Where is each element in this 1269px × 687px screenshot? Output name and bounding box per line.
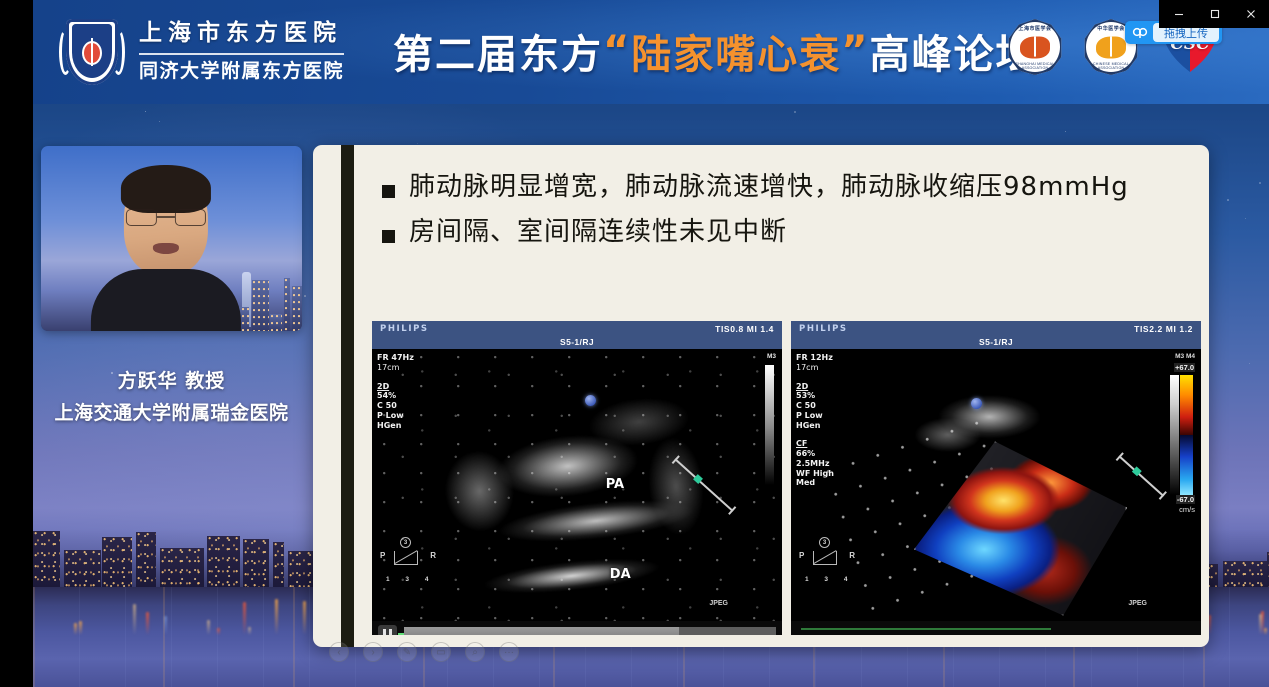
ultrasound-right-orientation: 3 P R 1 3 4 (799, 537, 855, 575)
orientation-left-label: P (799, 551, 804, 560)
pen-annotate-icon[interactable]: ✎ (397, 642, 417, 662)
hospital-name-block: 上海市东方医院 同济大学附属东方医院 (139, 22, 344, 81)
ultrasound-left-header: PHILIPS TIS0.8 MI 1.4 (372, 321, 782, 336)
ultrasound-right-bpm: --- bpm (1162, 634, 1194, 635)
sma-bottom-text: SHANGHAI MEDICAL ASSOCIATION (1007, 62, 1063, 70)
ultrasound-right-power: P Low (796, 411, 834, 421)
slide-bullet-1-text: 肺动脉明显增宽，肺动脉流速增快，肺动脉收缩压98mmHg (409, 171, 1129, 204)
ultrasound-left-orientation: 3 P R 1 3 4 (380, 537, 436, 575)
minimize-button[interactable] (1161, 0, 1197, 28)
hospital-name-line1: 上海市东方医院 (139, 22, 344, 45)
ultrasound-right-image: FR 12Hz 17cm 2D 53% C 50 P Low HGen (791, 349, 1201, 621)
ultrasound-left-framerate: FR 47Hz (377, 353, 414, 363)
velocity-scale-bottom: -67.0 (1176, 495, 1195, 504)
maximize-icon (1209, 8, 1221, 20)
meeting-window: 上海市东方医院 同济大学附属东方医院 第二届东方 “ 陆家嘴心衰 ” 高峰论坛 … (33, 0, 1269, 687)
ultrasound-left-power: P Low (377, 411, 414, 421)
orientation-right-label: R (849, 551, 855, 560)
previous-slide-icon[interactable]: ‹ (329, 642, 349, 662)
sma-top-text: 上海市医学会 (1007, 25, 1063, 32)
ultrasound-right-parameters: FR 12Hz 17cm 2D 53% C 50 P Low HGen (796, 353, 834, 488)
bpm-unit: bpm (757, 634, 775, 635)
ultrasound-right-cf-gain: 66% (796, 449, 834, 459)
more-options-icon[interactable]: ··· (499, 642, 519, 662)
cine-progress-bar[interactable] (404, 627, 776, 636)
window-controls (1159, 0, 1269, 28)
presenter-name: 方跃华 教授 (41, 366, 302, 393)
slide-bullet-1: 肺动脉明显增宽，肺动脉流速增快，肺动脉收缩压98mmHg (382, 171, 1187, 204)
zoom-tool-icon[interactable]: ⌕ (465, 642, 485, 662)
orientation-left-label: P (380, 551, 385, 560)
orientation-triangle-icon (394, 551, 418, 565)
ultrasound-left-gain: 54% (377, 391, 414, 401)
ultrasound-label-da: DA (610, 567, 631, 582)
orientation-circle-number: 3 (400, 537, 411, 548)
ultrasound-right-tis-mi: TIS2.2 MI 1.2 (1134, 324, 1193, 334)
forum-title-quote-close: ” (841, 28, 869, 74)
ultrasound-right-preset: HGen (796, 421, 834, 431)
philips-brand-label: PHILIPS (380, 324, 429, 334)
ultrasound-left-compress: C 50 (377, 401, 414, 411)
ultrasound-right-depth-marker: M3 M4 (1175, 353, 1195, 360)
ultrasound-right-compress: C 50 (796, 401, 834, 411)
ultrasound-left: PHILIPS TIS0.8 MI 1.4 S5-1/RJ PA DA (372, 321, 782, 635)
ultrasound-left-image: PA DA FR 47Hz 17cm 2D 54% C 50 P L (372, 349, 782, 621)
ultrasound-right-gain: 53% (796, 391, 834, 401)
slide-bullet-2: 房间隔、室间隔连续性未见中断 (382, 216, 1187, 249)
velocity-scale-unit: cm/s (1179, 505, 1195, 514)
next-slide-icon[interactable]: › (363, 642, 383, 662)
minimize-icon (1173, 8, 1185, 20)
philips-brand-label: PHILIPS (799, 324, 848, 334)
ultrasound-left-playback-bar[interactable]: --- bpm (372, 621, 782, 635)
ultrasound-right-jpeg-tag: JPEG (1128, 600, 1147, 607)
bpm-value: --- (743, 634, 755, 635)
maximize-button[interactable] (1197, 0, 1233, 28)
slide-toolbar[interactable]: ‹ › ✎ ▭ ⌕ ··· (329, 642, 519, 662)
ultrasound-right-cf-mode: CF (796, 439, 834, 449)
east-hospital-crest-logo (58, 17, 126, 87)
ultrasound-left-parameters: FR 47Hz 17cm 2D 54% C 50 P Low HGen (377, 353, 414, 430)
presenter-video-tile[interactable] (41, 146, 302, 331)
close-button[interactable] (1233, 0, 1269, 28)
shape-tool-icon[interactable]: ▭ (431, 642, 451, 662)
ecg-trace-line (801, 628, 1051, 630)
hospital-name-line2: 同济大学附属东方医院 (139, 53, 344, 81)
ultrasound-right-cf-freq: 2.5MHz (796, 459, 834, 469)
ultrasound-left-probe: S5-1/RJ (372, 336, 782, 349)
bpm-unit: bpm (1176, 634, 1194, 635)
ultrasound-label-pa: PA (606, 477, 624, 492)
ultrasound-left-depth-marker: M3 (767, 353, 776, 360)
ultrasound-right-grayscale-bar (1170, 375, 1179, 495)
ultrasound-left-grayscale-bar (765, 365, 774, 485)
bullet-square-icon (382, 230, 395, 243)
ultrasound-right-cf-med: Med (796, 478, 834, 488)
ultrasound-left-depth: 17cm (377, 363, 414, 373)
cloud-upload-icon (1129, 23, 1151, 42)
presenter-affiliation: 上海交通大学附属瑞金医院 (41, 398, 302, 425)
orientation-right-label: R (430, 551, 436, 560)
slide-left-accent-bar (341, 145, 354, 647)
ultrasound-right-header: PHILIPS TIS2.2 MI 1.2 (791, 321, 1201, 336)
orientation-triangle-icon (813, 551, 837, 565)
ultrasound-right-probe: S5-1/RJ (791, 336, 1201, 349)
ultrasound-left-tis-mi: TIS0.8 MI 1.4 (715, 324, 774, 334)
ultrasound-left-bpm: --- bpm (743, 634, 775, 635)
ultrasound-right-caliper (1118, 455, 1164, 497)
app-root: 上海市东方医院 同济大学附属东方医院 第二届东方 “ 陆家嘴心衰 ” 高峰论坛 … (0, 0, 1269, 687)
forum-title: 第二届东方 “ 陆家嘴心衰 ” 高峰论坛 (393, 20, 1038, 82)
ultrasound-left-mode: 2D (377, 382, 414, 392)
presenter-figure (89, 161, 241, 331)
ultrasound-right-depth: 17cm (796, 363, 834, 373)
forum-title-highlight: 陆家嘴心衰 (631, 22, 841, 80)
cma-bottom-text: CHINESE MEDICAL ASSOCIATION (1083, 62, 1139, 70)
ultrasound-right: PHILIPS TIS2.2 MI 1.2 S5-1/RJ (791, 321, 1201, 635)
bpm-value: --- (1162, 634, 1174, 635)
ultrasound-right-mode: 2D (796, 382, 834, 392)
ultrasound-left-preset: HGen (377, 421, 414, 431)
slide-content: 肺动脉明显增宽，肺动脉流速增快，肺动脉收缩压98mmHg 房间隔、室间隔连续性未… (354, 145, 1209, 647)
bullet-square-icon (382, 185, 395, 198)
orientation-numbers: 1 3 4 (805, 576, 854, 583)
orientation-circle-number: 3 (819, 537, 830, 548)
velocity-scale-top: +67.0 (1174, 363, 1195, 372)
forum-title-quote-open: “ (603, 28, 631, 74)
ultrasound-images: PHILIPS TIS0.8 MI 1.4 S5-1/RJ PA DA (372, 321, 1201, 635)
color-velocity-bar (1180, 375, 1193, 495)
event-banner: 上海市东方医院 同济大学附属东方医院 第二届东方 “ 陆家嘴心衰 ” 高峰论坛 … (33, 0, 1269, 104)
ultrasound-left-jpeg-tag: JPEG (709, 600, 728, 607)
pause-button[interactable] (378, 625, 397, 636)
slide-bullet-2-text: 房间隔、室间隔连续性未见中断 (409, 216, 787, 249)
ultrasound-right-cf-wf: WF High (796, 469, 834, 479)
presenter-name-block: 方跃华 教授 上海交通大学附属瑞金医院 (41, 366, 302, 425)
close-icon (1245, 8, 1257, 20)
orientation-numbers: 1 3 4 (386, 576, 435, 583)
ultrasound-right-footer: --- bpm (791, 621, 1201, 635)
forum-title-part1: 第二届东方 (393, 22, 603, 80)
presenter-glasses (125, 209, 205, 226)
shanghai-medical-association-logo: 上海市医学会 SHANGHAI MEDICAL ASSOCIATION (1007, 19, 1063, 75)
shared-slide[interactable]: 肺动脉明显增宽，肺动脉流速增快，肺动脉收缩压98mmHg 房间隔、室间隔连续性未… (313, 145, 1209, 647)
ultrasound-right-framerate: FR 12Hz (796, 353, 834, 363)
